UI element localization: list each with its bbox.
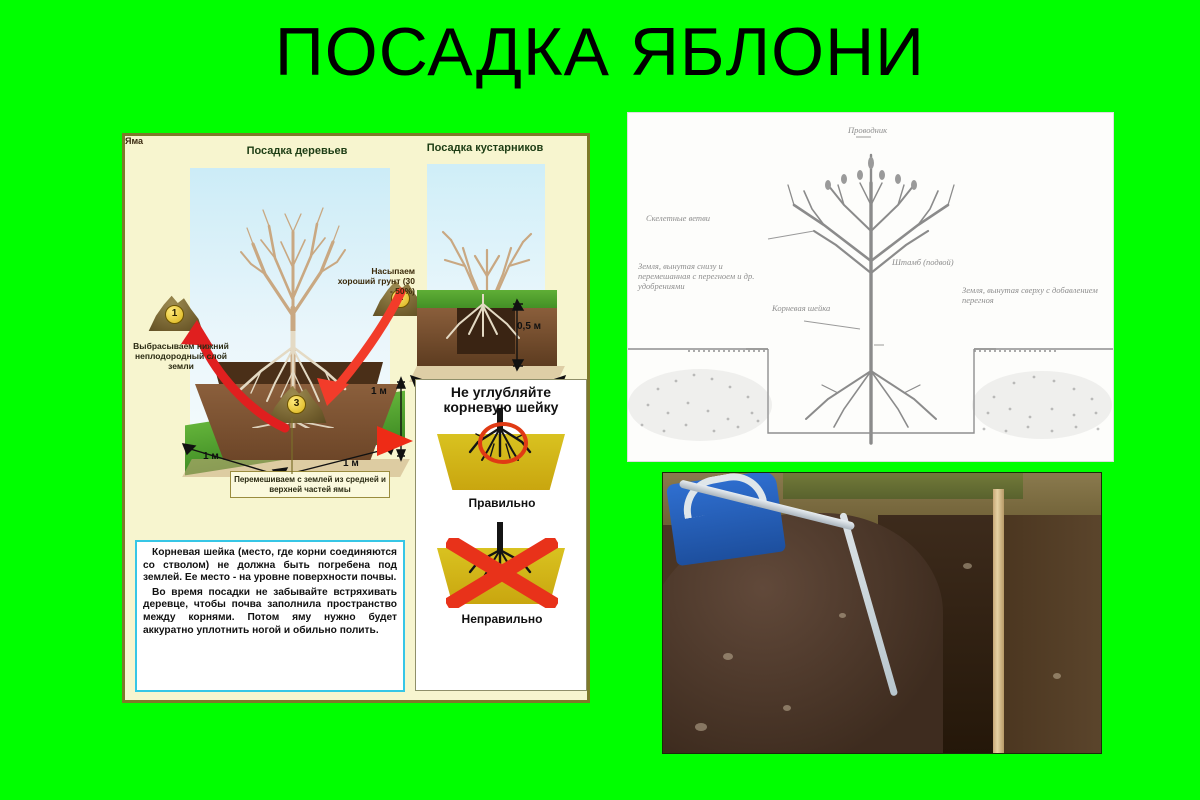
root-collar-warning-card: Не углубляйте корневую шейку Правильн	[415, 379, 587, 691]
pointer-arrow-icon	[377, 426, 413, 456]
photo-soil-speck	[963, 563, 972, 569]
photo-grass-patch	[783, 473, 1023, 499]
root-collar-highlight-circle	[478, 422, 528, 464]
leader-line-mix	[285, 418, 299, 474]
text-paragraph-2: Во время посадки не забывайте встряхиват…	[143, 587, 397, 637]
slide-root: ПОСАДКА ЯБЛОНИ Посадка деревьев Посадка …	[0, 0, 1200, 800]
photo-soil-speck	[783, 705, 791, 711]
scan-label-skeletal-branches: Скелетные ветви	[646, 213, 728, 223]
dim-tree-depth: 1 м	[371, 386, 387, 397]
text-paragraph-1: Корневая шейка (место, где корни соединя…	[143, 547, 397, 585]
scan-label-soil-bottom: Земля, вынутая снизу и перемешанная с пе…	[638, 261, 768, 291]
scan-label-leader: Проводник	[848, 125, 887, 135]
label-good-soil: Насыпаем хороший грунт (30 - 50%)	[335, 266, 415, 296]
incorrect-cross-icon	[446, 538, 558, 608]
scan-label-stem: Штамб (подвой)	[892, 257, 954, 267]
page-title: ПОСАДКА ЯБЛОНИ	[0, 12, 1200, 92]
dim-tree-width-right: 1 м	[343, 458, 359, 469]
root-collar-text-box: Корневая шейка (место, где корни соединя…	[135, 540, 405, 692]
watering-photo	[662, 472, 1102, 754]
planting-poster: Посадка деревьев Посадка кустарников	[122, 133, 590, 703]
photo-soil-speck	[839, 613, 846, 618]
caption-correct: Правильно	[416, 496, 588, 510]
photo-soil-speck	[723, 653, 733, 660]
photo-soil-speck	[695, 723, 707, 731]
scan-label-root-collar: Корневая шейка	[772, 303, 846, 313]
callout-mix-soil: Перемешиваем с землей из средней и верхн…	[230, 471, 390, 498]
scan-label-soil-top: Земля, вынутая сверху с добавлением пере…	[962, 285, 1098, 305]
photo-hole-wall	[993, 515, 1102, 754]
photo-wooden-stake	[993, 489, 1004, 754]
bush-pit-dimension-lines	[505, 292, 565, 384]
poster-header-bushes: Посадка кустарников	[425, 142, 545, 155]
dim-bush-depth: 0,5 м	[517, 321, 541, 332]
photo-soil-speck	[1053, 673, 1061, 679]
poster-header-trees: Посадка деревьев	[207, 145, 387, 158]
dim-tree-width-left: 1 м	[203, 451, 219, 462]
scanned-planting-diagram: Проводник Скелетные ветви Штамб (подвой)…	[627, 112, 1114, 462]
caption-incorrect: Неправильно	[416, 612, 588, 626]
